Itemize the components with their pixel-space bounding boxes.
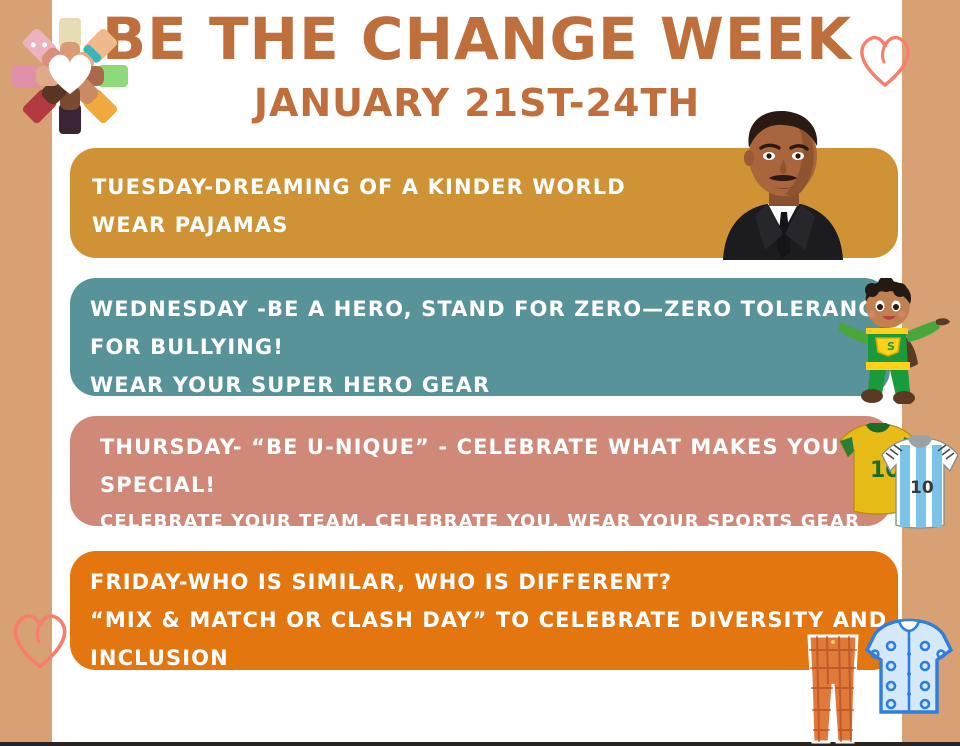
day-band-friday: FRIDAY-WHO IS SIMILAR, WHO IS DIFFERENT?… — [70, 551, 898, 670]
svg-text:10: 10 — [910, 478, 934, 498]
diverse-hands-heart-illustration — [0, 14, 140, 154]
day-line: THURSDAY- “BE U-NIQUE” - CELEBRATE WHAT … — [100, 428, 892, 466]
day-line: FRIDAY-WHO IS SIMILAR, WHO IS DIFFERENT? — [90, 563, 898, 601]
superhero-child-illustration: S — [838, 278, 956, 409]
poster-title: BE THE CHANGE WEEK — [52, 10, 902, 68]
poster-canvas: BE THE CHANGE WEEK JANUARY 21ST-24TH — [0, 0, 960, 746]
day-line: “MIX & MATCH OR CLASH DAY” TO CELEBRATE … — [90, 601, 898, 639]
day-line: SPECIAL! — [100, 466, 892, 504]
day-line: FOR BULLYING! — [90, 328, 890, 366]
day-line: WEDNESDAY -BE A HERO, STAND FOR ZERO—ZER… — [90, 290, 890, 328]
day-band-thursday: THURSDAY- “BE U-NIQUE” - CELEBRATE WHAT … — [70, 416, 892, 526]
svg-text:S: S — [887, 340, 895, 353]
martin-luther-king-portrait-illustration — [705, 100, 855, 265]
poster-header: BE THE CHANGE WEEK JANUARY 21ST-24TH — [52, 10, 902, 122]
day-line: CELEBRATE YOUR TEAM, CELEBRATE YOU, WEAR… — [100, 504, 892, 540]
clash-day-outfit-illustration — [795, 612, 955, 746]
day-line: INCLUSION — [90, 639, 898, 677]
heart-icon-bottom-left — [8, 608, 72, 679]
poster-subtitle: JANUARY 21ST-24TH — [52, 84, 902, 122]
day-band-wednesday: WEDNESDAY -BE A HERO, STAND FOR ZERO—ZER… — [70, 278, 890, 396]
day-line: WEAR YOUR SUPER HERO GEAR — [90, 366, 890, 404]
heart-icon-top-right — [855, 30, 915, 97]
soccer-jerseys-illustration: 10 10 — [828, 415, 960, 536]
